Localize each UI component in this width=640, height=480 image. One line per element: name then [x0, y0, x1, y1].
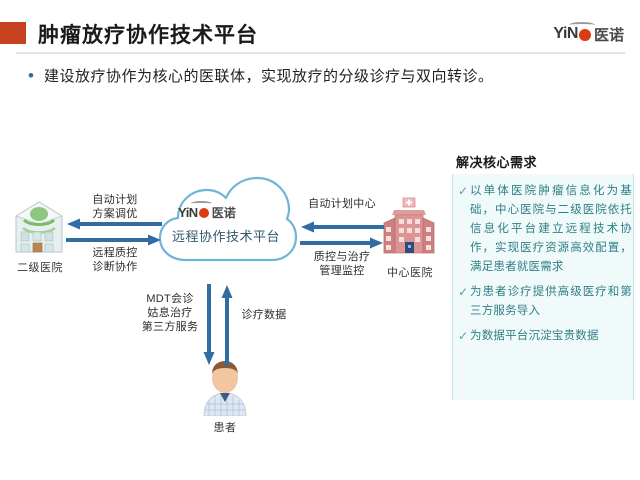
check-icon: ✓	[456, 182, 470, 201]
brand-logo-latin: YiN	[553, 25, 578, 43]
page-title: 肿瘤放疗协作技术平台	[38, 19, 258, 49]
patient-label: 患者	[190, 419, 260, 435]
check-icon: ✓	[456, 283, 470, 302]
arrow-right-lower-line2: 管理监控	[298, 264, 386, 278]
arrow-left-upper-label: 自动计划 方案调优	[72, 193, 158, 221]
brand-logo-swoosh-icon	[569, 22, 595, 28]
arrow-bottom-down-line3: 第三方服务	[130, 320, 210, 334]
arrow-bottom-up-label: 诊疗数据	[232, 308, 296, 322]
slide-canvas: 肿瘤放疗协作技术平台 YiN 医诺 • 建设放疗协作为核心的医联体，实现放疗的分…	[0, 0, 640, 480]
cloud-logo-dot	[199, 208, 209, 218]
arrow-left-upper-line2: 方案调优	[72, 207, 158, 221]
subtitle-text: 建设放疗协作为核心的医联体，实现放疗的分级诊疗与双向转诊。	[44, 66, 494, 88]
cloud-logo-han: 医诺	[212, 204, 236, 221]
arrow-left-lower-line1: 远程质控	[72, 246, 158, 260]
arrow-bottom-up	[221, 284, 233, 366]
secondary-hospital-icon	[10, 198, 68, 256]
cloud-platform-label: 远程协作技术平台	[152, 226, 300, 245]
arrow-right-upper-line1: 自动计划中心	[298, 197, 386, 211]
arrow-right-lower-line1: 质控与治疗	[298, 250, 386, 264]
arrow-right-lower	[300, 237, 384, 249]
bullet-icon: •	[28, 66, 34, 86]
list-item: ✓ 以单体医院肿瘤信息化为基础，中心医院与二级医院依托信息化平台建立远程技术协作…	[456, 182, 632, 277]
header-accent-square	[0, 22, 26, 44]
arrow-bottom-down-label: MDT会诊 姑息治疗 第三方服务	[130, 292, 210, 334]
list-item-text: 以单体医院肿瘤信息化为基础，中心医院与二级医院依托信息化平台建立远程技术协作，实…	[470, 182, 632, 277]
brand-logo-dot	[579, 29, 591, 41]
patient-avatar-icon	[196, 360, 254, 416]
header-divider	[16, 52, 625, 54]
list-item: ✓ 为患者诊疗提供高级医疗和第三方服务导入	[456, 283, 632, 321]
arrow-right-upper-label: 自动计划中心	[298, 197, 386, 211]
brand-logo-cloud: YiN 医诺	[178, 204, 236, 220]
arrow-left-lower-line2: 诊断协作	[72, 260, 158, 274]
list-item: ✓ 为数据平台沉淀宝贵数据	[456, 327, 632, 346]
arrow-left-lower	[66, 234, 162, 246]
subtitle-row: • 建设放疗协作为核心的医联体，实现放疗的分级诊疗与双向转诊。	[28, 66, 493, 88]
brand-logo-han: 医诺	[594, 24, 624, 45]
arrow-left-lower-label: 远程质控 诊断协作	[72, 246, 158, 274]
arrow-bottom-down-line2: 姑息治疗	[130, 306, 210, 320]
secondary-hospital-label: 二级医院	[0, 259, 80, 275]
list-item-text: 为数据平台沉淀宝贵数据	[470, 327, 599, 346]
list-item-text: 为患者诊疗提供高级医疗和第三方服务导入	[470, 283, 632, 321]
brand-logo-header: YiN 医诺	[553, 24, 624, 44]
cloud-logo-latin: YiN	[178, 205, 198, 220]
check-icon: ✓	[456, 327, 470, 346]
arrow-bottom-down-line1: MDT会诊	[130, 292, 210, 306]
panel-requirements-list: ✓ 以单体医院肿瘤信息化为基础，中心医院与二级医院依托信息化平台建立远程技术协作…	[456, 182, 632, 352]
center-hospital-icon	[378, 196, 440, 258]
arrow-left-upper-line1: 自动计划	[72, 193, 158, 207]
arrow-bottom-up-line1: 诊疗数据	[232, 308, 296, 322]
arrow-right-lower-label: 质控与治疗 管理监控	[298, 250, 386, 278]
cloud-logo-swoosh-icon	[191, 201, 212, 206]
cloud-platform-node: YiN 医诺 远程协作技术平台	[152, 172, 300, 284]
arrow-right-upper	[300, 221, 384, 233]
panel-title: 解决核心需求	[456, 152, 537, 171]
